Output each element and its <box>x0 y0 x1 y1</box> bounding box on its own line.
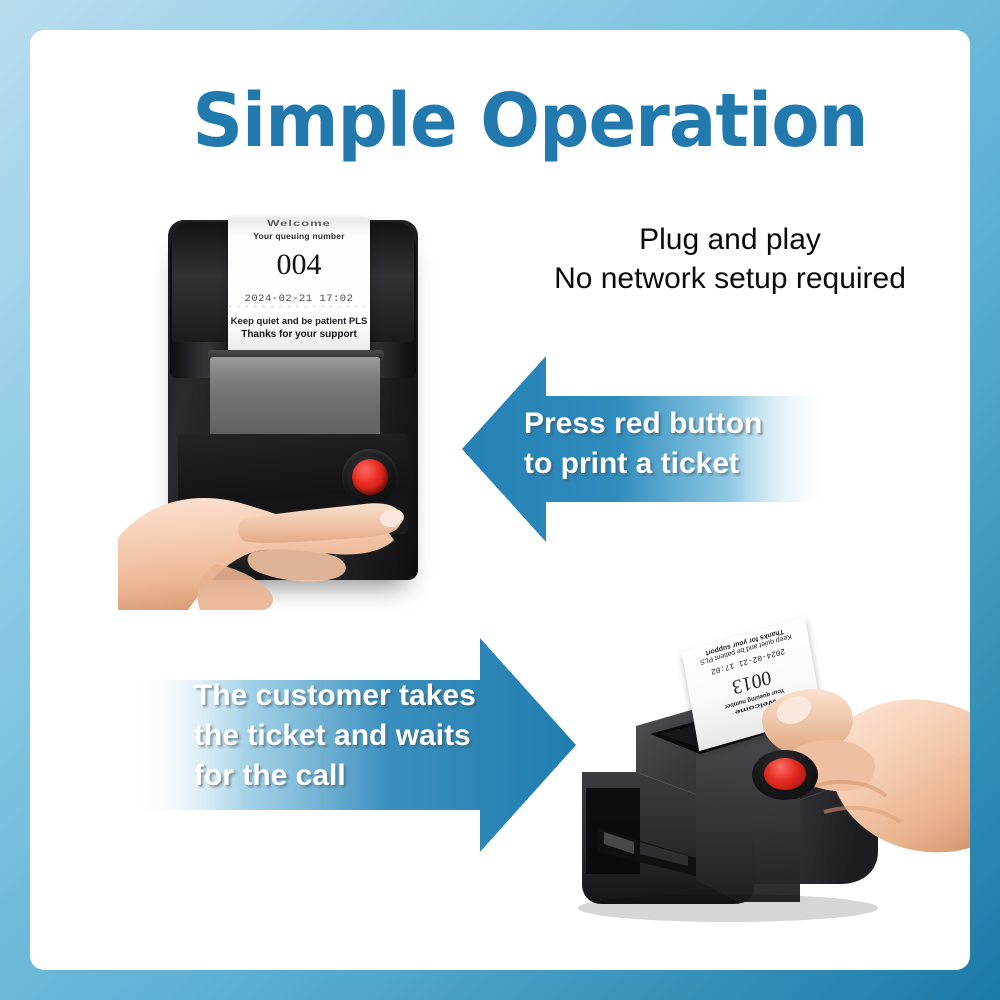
receipt-top-text: Welcome Your queuing number 004 2024-02-… <box>228 218 370 340</box>
printer-front-paper-slot <box>210 357 380 437</box>
tagline-block: Plug and play No network setup required <box>485 220 970 298</box>
customer-takes-ticket-arrow: The customer takes the ticket and waits … <box>128 634 576 856</box>
press-red-button-arrow: Press red button to print a ticket <box>462 352 834 546</box>
press-red-button-arrow-label: Press red button to print a ticket <box>524 404 834 484</box>
printer-front-view: Welcome Your queuing number 004 2024-02-… <box>150 202 440 602</box>
tagline-line-2: No network setup required <box>485 259 970 298</box>
tagline-line-1: Plug and play <box>485 220 970 259</box>
page-title: Simple Operation <box>155 78 906 164</box>
receipt-note-primary: Keep quiet and be patient PLS <box>228 316 370 327</box>
infographic-canvas: Simple Operation Plug and play No networ… <box>0 0 1000 1000</box>
hand-pressing-button <box>158 460 428 610</box>
customer-takes-ticket-arrow-label: The customer takes the ticket and waits … <box>194 676 564 796</box>
receipt-welcome-label: Welcome <box>228 219 370 228</box>
receipt-cut-line: - - - - - - - - - - - - - - - - - - - <box>228 304 370 312</box>
receipt-subtitle-label: Your queuing number <box>228 231 370 241</box>
print-button-angled[interactable] <box>764 758 806 790</box>
receipt-note-secondary: Thanks for your support <box>228 329 370 340</box>
receipt-queue-number: 004 <box>228 248 370 282</box>
printer-angled-view: Welcome Your queuing number 0013 2024-02… <box>578 630 970 960</box>
white-content-panel: Simple Operation Plug and play No networ… <box>30 30 970 970</box>
